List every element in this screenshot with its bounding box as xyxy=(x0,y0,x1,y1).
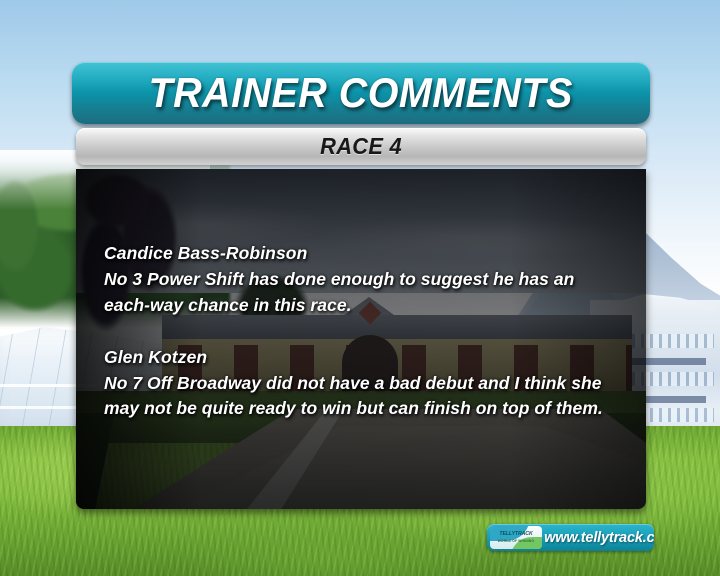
comments-list: Candice Bass-Robinson No 3 Power Shift h… xyxy=(104,241,624,448)
panel-title-bar: TRAINER COMMENTS xyxy=(72,62,650,124)
panel-subtitle-bar: RACE 4 xyxy=(76,128,646,165)
trainer-comments-panel: TRAINER COMMENTS RACE 4 Cand xyxy=(72,62,650,509)
tellytrack-url-bar[interactable]: TELLYTRACK WORLD OF WINNING www.tellytra… xyxy=(487,524,654,551)
trainer-name: Candice Bass-Robinson xyxy=(104,241,624,267)
comment-item: Candice Bass-Robinson No 3 Power Shift h… xyxy=(104,241,624,319)
trainer-comment-text: No 7 Off Broadway did not have a bad deb… xyxy=(104,371,624,423)
tellytrack-logo-wordmark: TELLYTRACK xyxy=(499,532,532,538)
panel-body: Candice Bass-Robinson No 3 Power Shift h… xyxy=(76,169,646,509)
comment-item: Glen Kotzen No 7 Off Broadway did not ha… xyxy=(104,345,624,423)
tellytrack-logo-tagline: WORLD OF WINNING xyxy=(498,539,534,543)
tellytrack-url-text[interactable]: www.tellytrack.com xyxy=(544,529,654,546)
race-label: RACE 4 xyxy=(320,133,402,160)
trainer-comment-text: No 3 Power Shift has done enough to sugg… xyxy=(104,267,624,319)
page-title: TRAINER COMMENTS xyxy=(149,69,573,117)
trainer-name: Glen Kotzen xyxy=(104,345,624,371)
tellytrack-logo-icon: TELLYTRACK WORLD OF WINNING xyxy=(490,526,542,549)
